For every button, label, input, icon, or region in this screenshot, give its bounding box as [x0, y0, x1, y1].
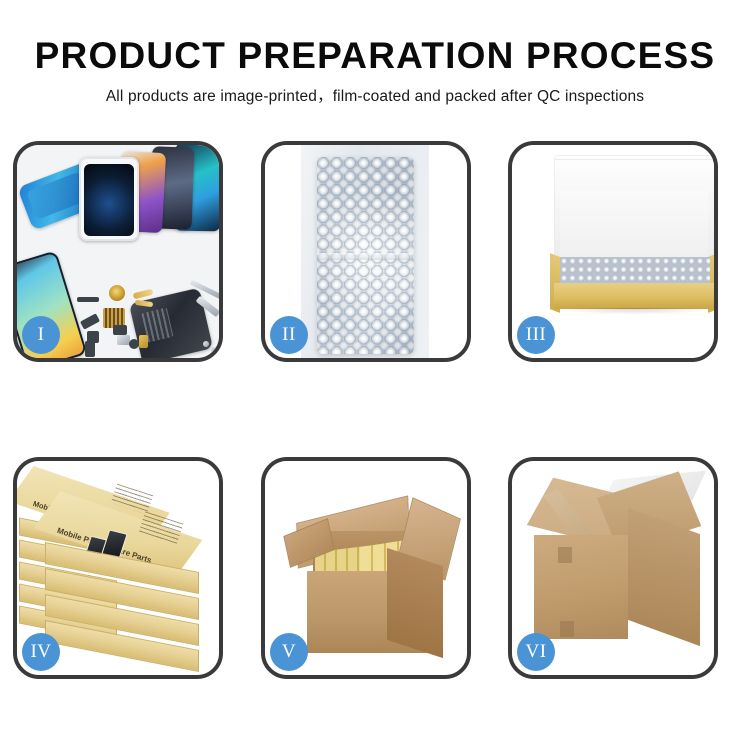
step-panel-1[interactable]: I	[13, 141, 223, 362]
screen-protector	[79, 157, 139, 241]
step-panel-5[interactable]: V	[261, 457, 471, 679]
process-steps-grid: I II	[0, 0, 750, 750]
step-badge-5: V	[270, 633, 308, 671]
part-button-cable	[129, 339, 139, 349]
step-badge-2: II	[270, 316, 308, 354]
step-2-illustration: II	[265, 145, 467, 358]
step-panel-6[interactable]: VI	[508, 457, 718, 679]
carton-front-face	[534, 535, 628, 639]
foam-padding	[560, 191, 708, 257]
bubble-wrapped-item	[317, 157, 414, 354]
part-speaker-mesh	[77, 297, 99, 302]
step-badge-6: VI	[517, 633, 555, 671]
step-badge-1: I	[22, 316, 60, 354]
part-sim-tray	[139, 335, 148, 348]
carton-seal-mark-top	[558, 547, 572, 563]
part-screws	[203, 341, 209, 347]
bubble-wrapped-contents	[560, 257, 710, 285]
step-badge-3: III	[517, 316, 555, 354]
step-6-illustration: VI	[512, 461, 714, 675]
part-camera-module	[113, 325, 127, 335]
step-5-illustration: V	[265, 461, 467, 675]
carton-side-panel	[387, 548, 443, 658]
step-panel-3[interactable]: III	[508, 141, 718, 362]
box-front-panel	[554, 283, 714, 309]
part-screws-2	[211, 347, 217, 353]
step-3-illustration: III	[512, 145, 714, 358]
part-battery-tab	[85, 341, 95, 357]
box-shadow	[556, 308, 714, 315]
carton-seal-mark-bottom	[560, 621, 574, 637]
wrap-seam	[317, 253, 414, 260]
part-vibration-coil	[109, 285, 125, 301]
product-preparation-poster: PRODUCT PREPARATION PROCESS All products…	[0, 0, 750, 750]
step-panel-2[interactable]: II	[261, 141, 471, 362]
step-1-illustration: I	[17, 145, 219, 358]
step-4-illustration: Mobile Phone Spare Parts Mobile Phone Sp…	[17, 461, 219, 675]
step-panel-4[interactable]: Mobile Phone Spare Parts Mobile Phone Sp…	[13, 457, 223, 679]
step-badge-4: IV	[22, 633, 60, 671]
